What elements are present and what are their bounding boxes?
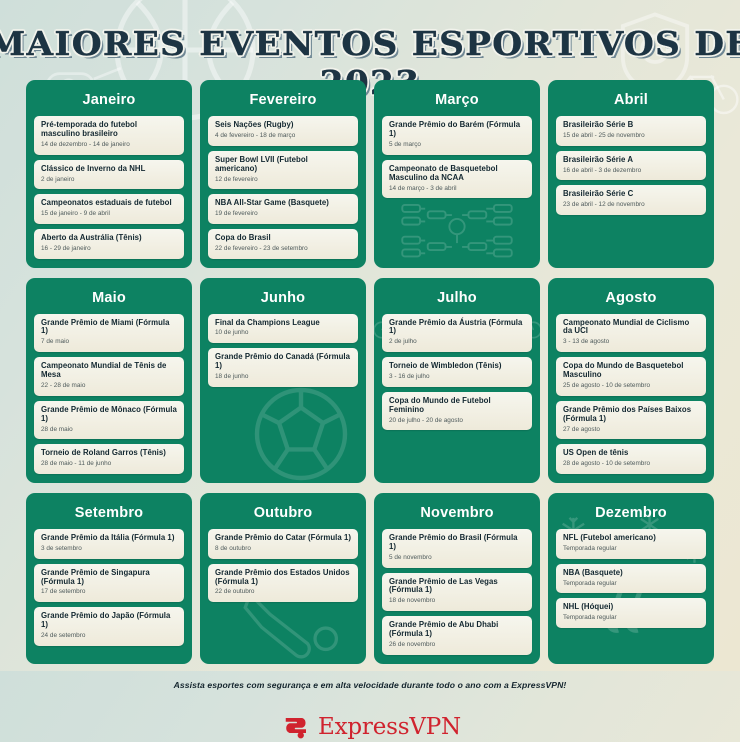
event-card[interactable]: Copa do Mundo de Basquetebol Masculino25… (556, 357, 706, 396)
footer-section: Assista esportes com segurança e em alta… (0, 680, 740, 742)
event-date: 3 - 16 de julho (389, 373, 525, 381)
event-date: 14 de março - 3 de abril (389, 185, 525, 193)
event-date: 27 de agosto (563, 426, 699, 434)
event-name: Brasileirão Série A (563, 156, 699, 165)
event-card[interactable]: Campeonato Mundial de Tênis de Mesa22 - … (34, 357, 184, 396)
event-list: Grande Prêmio do Catar (Fórmula 1)8 de o… (208, 529, 358, 602)
event-name: Campeonato de Basquetebol Masculino da N… (389, 165, 525, 183)
event-name: Grande Prêmio dos Países Baixos (Fórmula… (563, 406, 699, 424)
event-name: Grande Prêmio de Mônaco (Fórmula 1) (41, 406, 177, 424)
title-section: MAIORES EVENTOS ESPORTIVOS DE 2023 (0, 0, 740, 78)
event-card[interactable]: Campeonato Mundial de Ciclismo da UCI3 -… (556, 314, 706, 353)
event-name: Grande Prêmio do Japão (Fórmula 1) (41, 612, 177, 630)
event-date: 14 de dezembro - 14 de janeiro (41, 141, 177, 149)
event-card[interactable]: Final da Champions League10 de junho (208, 314, 358, 344)
event-name: Aberto da Austrália (Tênis) (41, 234, 177, 243)
event-date: 5 de novembro (389, 554, 525, 562)
event-name: NHL (Hóquei) (563, 603, 699, 612)
event-card[interactable]: Campeonato de Basquetebol Masculino da N… (382, 160, 532, 199)
event-date: 12 de fevereiro (215, 176, 351, 184)
event-name: Copa do Mundo de Basquetebol Masculino (563, 362, 699, 380)
event-card[interactable]: Aberto da Austrália (Tênis)16 - 29 de ja… (34, 229, 184, 259)
event-name: Grande Prêmio do Catar (Fórmula 1) (215, 534, 351, 543)
event-date: Temporada regular (563, 580, 699, 588)
event-list: Grande Prêmio da Áustria (Fórmula 1)2 de… (382, 314, 532, 431)
event-date: 25 de agosto - 10 de setembro (563, 382, 699, 390)
event-card[interactable]: NHL (Hóquei)Temporada regular (556, 598, 706, 628)
event-name: Clássico de Inverno da NHL (41, 165, 177, 174)
event-name: Brasileirão Série C (563, 190, 699, 199)
event-date: 28 de maio - 11 de junho (41, 460, 177, 468)
month-title: Setembro (34, 501, 184, 529)
event-card[interactable]: Grande Prêmio de Mônaco (Fórmula 1)28 de… (34, 401, 184, 440)
event-name: Grande Prêmio de Miami (Fórmula 1) (41, 319, 177, 337)
month-title: Junho (208, 286, 358, 314)
event-name: Campeonato Mundial de Tênis de Mesa (41, 362, 177, 380)
event-name: Campeonatos estaduais de futebol (41, 199, 177, 208)
event-date: 5 de março (389, 141, 525, 149)
event-card[interactable]: Grande Prêmio de Miami (Fórmula 1)7 de m… (34, 314, 184, 353)
event-card[interactable]: Grande Prêmio dos Países Baixos (Fórmula… (556, 401, 706, 440)
month-panel-fevereiro: FevereiroSeis Nações (Rugby)4 de feverei… (200, 80, 366, 268)
month-title: Maio (34, 286, 184, 314)
event-date: 7 de maio (41, 338, 177, 346)
event-name: Copa do Mundo de Futebol Feminino (389, 397, 525, 415)
event-card[interactable]: Grande Prêmio do Canadá (Fórmula 1)18 de… (208, 348, 358, 387)
event-name: Copa do Brasil (215, 234, 351, 243)
event-date: 28 de maio (41, 426, 177, 434)
month-panel-dezembro: DezembroNFL (Futebol americano)Temporada… (548, 493, 714, 664)
event-list: Campeonato Mundial de Ciclismo da UCI3 -… (556, 314, 706, 474)
event-card[interactable]: Brasileirão Série A16 de abril - 3 de de… (556, 151, 706, 181)
event-card[interactable]: NFL (Futebol americano)Temporada regular (556, 529, 706, 559)
month-panel-novembro: NovembroGrande Prêmio do Brasil (Fórmula… (374, 493, 540, 664)
event-card[interactable]: Grande Prêmio de Las Vegas (Fórmula 1)18… (382, 573, 532, 612)
event-list: Seis Nações (Rugby)4 de fevereiro - 18 d… (208, 116, 358, 259)
event-card[interactable]: Grande Prêmio do Barém (Fórmula 1)5 de m… (382, 116, 532, 155)
event-date: 10 de junho (215, 329, 351, 337)
event-name: Grande Prêmio de Abu Dhabi (Fórmula 1) (389, 621, 525, 639)
event-list: Pré-temporada do futebol masculino brasi… (34, 116, 184, 259)
calendar-grid: JaneiroPré-temporada do futebol masculin… (0, 78, 740, 664)
event-list: NFL (Futebol americano)Temporada regular… (556, 529, 706, 628)
expressvpn-logo[interactable]: ExpressVPN (0, 712, 740, 742)
event-name: Seis Nações (Rugby) (215, 121, 351, 130)
event-name: Campeonato Mundial de Ciclismo da UCI (563, 319, 699, 337)
event-card[interactable]: Copa do Brasil22 de fevereiro - 23 de se… (208, 229, 358, 259)
event-list: Grande Prêmio do Barém (Fórmula 1)5 de m… (382, 116, 532, 198)
event-date: 24 de setembro (41, 632, 177, 640)
event-date: 28 de agosto - 10 de setembro (563, 460, 699, 468)
event-date: 15 de abril - 25 de novembro (563, 132, 699, 140)
event-name: Pré-temporada do futebol masculino brasi… (41, 121, 177, 139)
event-name: Brasileirão Série B (563, 121, 699, 130)
event-name: Torneio de Wimbledon (Tênis) (389, 362, 525, 371)
event-name: Grande Prêmio do Brasil (Fórmula 1) (389, 534, 525, 552)
month-panel-junho: JunhoFinal da Champions League10 de junh… (200, 278, 366, 483)
month-panel-janeiro: JaneiroPré-temporada do futebol masculin… (26, 80, 192, 268)
month-title: Dezembro (556, 501, 706, 529)
month-panel-abril: AbrilBrasileirão Série B15 de abril - 25… (548, 80, 714, 268)
month-title: Outubro (208, 501, 358, 529)
event-name: Grande Prêmio de Las Vegas (Fórmula 1) (389, 578, 525, 596)
event-date: Temporada regular (563, 545, 699, 553)
event-card[interactable]: Campeonatos estaduais de futebol15 de ja… (34, 194, 184, 224)
event-name: NFL (Futebol americano) (563, 534, 699, 543)
event-card[interactable]: Grande Prêmio do Japão (Fórmula 1)24 de … (34, 607, 184, 646)
event-date: 8 de outubro (215, 545, 351, 553)
event-name: NBA All-Star Game (Basquete) (215, 199, 351, 208)
month-panel-julho: JulhoGrande Prêmio da Áustria (Fórmula 1… (374, 278, 540, 483)
brand-name: ExpressVPN (318, 714, 461, 740)
event-date: Temporada regular (563, 614, 699, 622)
event-name: Final da Champions League (215, 319, 351, 328)
month-panel-agosto: AgostoCampeonato Mundial de Ciclismo da … (548, 278, 714, 483)
event-card[interactable]: Grande Prêmio do Catar (Fórmula 1)8 de o… (208, 529, 358, 559)
event-date: 3 - 13 de agosto (563, 338, 699, 346)
event-card[interactable]: NBA All-Star Game (Basquete)19 de fevere… (208, 194, 358, 224)
event-name: NBA (Basquete) (563, 569, 699, 578)
event-card[interactable]: Brasileirão Série B15 de abril - 25 de n… (556, 116, 706, 146)
event-name: Grande Prêmio do Barém (Fórmula 1) (389, 121, 525, 139)
event-card[interactable]: Grande Prêmio da Áustria (Fórmula 1)2 de… (382, 314, 532, 353)
month-panel-março: MarçoGrande Prêmio do Barém (Fórmula 1)5… (374, 80, 540, 268)
event-name: Grande Prêmio dos Estados Unidos (Fórmul… (215, 569, 351, 587)
event-date: 18 de junho (215, 373, 351, 381)
event-card[interactable]: Brasileirão Série C23 de abril - 12 de n… (556, 185, 706, 215)
event-card[interactable]: US Open de tênis28 de agosto - 10 de set… (556, 444, 706, 474)
month-title: Fevereiro (208, 88, 358, 116)
event-card[interactable]: Grande Prêmio da Itália (Fórmula 1)3 de … (34, 529, 184, 559)
event-name: US Open de tênis (563, 449, 699, 458)
event-card[interactable]: Torneio de Roland Garros (Tênis)28 de ma… (34, 444, 184, 474)
event-date: 15 de janeiro - 9 de abril (41, 210, 177, 218)
event-list: Brasileirão Série B15 de abril - 25 de n… (556, 116, 706, 215)
month-panel-maio: MaioGrande Prêmio de Miami (Fórmula 1)7 … (26, 278, 192, 483)
event-card[interactable]: Grande Prêmio do Brasil (Fórmula 1)5 de … (382, 529, 532, 568)
event-list: Final da Champions League10 de junhoGran… (208, 314, 358, 387)
event-date: 22 de outubro (215, 588, 351, 596)
event-card[interactable]: Pré-temporada do futebol masculino brasi… (34, 116, 184, 155)
event-card[interactable]: Clássico de Inverno da NHL2 de janeiro (34, 160, 184, 190)
event-name: Torneio de Roland Garros (Tênis) (41, 449, 177, 458)
expressvpn-mark-icon (279, 712, 309, 742)
event-name: Super Bowl LVII (Futebol americano) (215, 156, 351, 174)
month-title: Janeiro (34, 88, 184, 116)
event-card[interactable]: Grande Prêmio dos Estados Unidos (Fórmul… (208, 564, 358, 603)
event-name: Grande Prêmio do Canadá (Fórmula 1) (215, 353, 351, 371)
event-card[interactable]: Copa do Mundo de Futebol Feminino20 de j… (382, 392, 532, 431)
event-list: Grande Prêmio de Miami (Fórmula 1)7 de m… (34, 314, 184, 474)
footer-tagline: Assista esportes com segurança e em alta… (0, 680, 740, 690)
event-date: 3 de setembro (41, 545, 177, 553)
event-date: 16 de abril - 3 de dezembro (563, 167, 699, 175)
event-date: 23 de abril - 12 de novembro (563, 201, 699, 209)
event-date: 22 de fevereiro - 23 de setembro (215, 245, 351, 253)
event-date: 17 de setembro (41, 588, 177, 596)
event-date: 16 - 29 de janeiro (41, 245, 177, 253)
event-card[interactable]: Grande Prêmio de Singapura (Fórmula 1)17… (34, 564, 184, 603)
event-card[interactable]: Grande Prêmio de Abu Dhabi (Fórmula 1)26… (382, 616, 532, 655)
month-panel-setembro: SetembroGrande Prêmio da Itália (Fórmula… (26, 493, 192, 664)
event-date: 22 - 28 de maio (41, 382, 177, 390)
event-card[interactable]: Super Bowl LVII (Futebol americano)12 de… (208, 151, 358, 190)
event-date: 19 de fevereiro (215, 210, 351, 218)
event-date: 26 de novembro (389, 641, 525, 649)
event-name: Grande Prêmio de Singapura (Fórmula 1) (41, 569, 177, 587)
event-date: 4 de fevereiro - 18 de março (215, 132, 351, 140)
event-date: 18 de novembro (389, 597, 525, 605)
month-title: Novembro (382, 501, 532, 529)
month-title: Março (382, 88, 532, 116)
event-date: 20 de julho - 20 de agosto (389, 417, 525, 425)
month-title: Abril (556, 88, 706, 116)
month-panel-outubro: OutubroGrande Prêmio do Catar (Fórmula 1… (200, 493, 366, 664)
event-date: 2 de janeiro (41, 176, 177, 184)
event-card[interactable]: Torneio de Wimbledon (Tênis)3 - 16 de ju… (382, 357, 532, 387)
month-title: Julho (382, 286, 532, 314)
event-name: Grande Prêmio da Itália (Fórmula 1) (41, 534, 177, 543)
event-date: 2 de julho (389, 338, 525, 346)
event-list: Grande Prêmio do Brasil (Fórmula 1)5 de … (382, 529, 532, 655)
event-card[interactable]: Seis Nações (Rugby)4 de fevereiro - 18 d… (208, 116, 358, 146)
month-title: Agosto (556, 286, 706, 314)
event-list: Grande Prêmio da Itália (Fórmula 1)3 de … (34, 529, 184, 646)
event-name: Grande Prêmio da Áustria (Fórmula 1) (389, 319, 525, 337)
event-card[interactable]: NBA (Basquete)Temporada regular (556, 564, 706, 594)
